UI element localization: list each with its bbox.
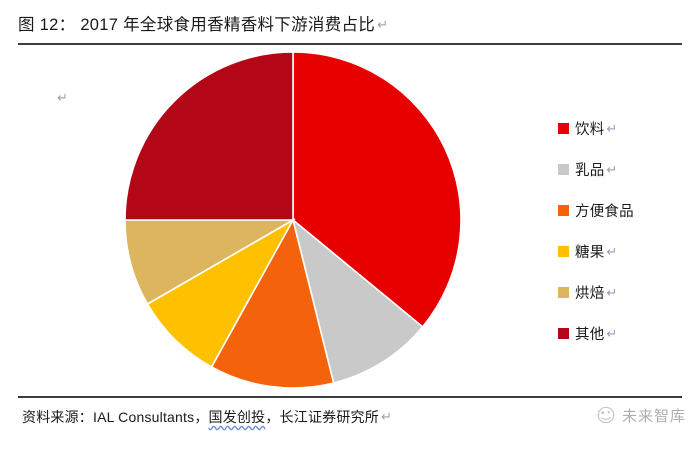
legend-swatch-icon: [558, 205, 569, 216]
legend-item-label: 糖果: [575, 241, 604, 262]
legend-swatch-icon: [558, 328, 569, 339]
pie-chart-svg: [123, 50, 463, 390]
source-ial: IAL Consultants: [93, 409, 194, 425]
watermark: 未来智库: [595, 404, 686, 426]
legend-item-label: 饮料: [575, 118, 604, 139]
title-divider: [18, 43, 682, 45]
watermark-logo-icon: [595, 404, 617, 426]
figure-container: 图 12： 2017 年全球食用香精香料下游消费占比↵ ↵ 饮料↵乳品↵方便食品…: [0, 0, 700, 449]
figure-title-text: 图 12： 2017 年全球食用香精香料下游消费占比: [18, 16, 375, 34]
pie-slice-group: [125, 52, 461, 388]
source-separator-2: ，: [265, 409, 279, 425]
source-guofa: 国发创投: [209, 409, 266, 425]
legend-item[interactable]: 乳品↵: [558, 149, 698, 190]
legend-item[interactable]: 饮料↵: [558, 108, 698, 149]
legend-swatch-icon: [558, 287, 569, 298]
legend-swatch-icon: [558, 123, 569, 134]
source-separator-1: ，: [194, 409, 208, 425]
legend-item-label: 方便食品: [575, 200, 634, 221]
legend-item[interactable]: 糖果↵: [558, 231, 698, 272]
legend-item[interactable]: 烘焙↵: [558, 272, 698, 313]
legend-swatch-icon: [558, 246, 569, 257]
paragraph-mark-icon-legend: ↵: [606, 244, 617, 260]
paragraph-mark-icon: ↵: [377, 17, 388, 32]
source-prefix-label: 资料来源：: [22, 409, 93, 425]
paragraph-mark-icon-legend: ↵: [606, 285, 617, 301]
legend-item-label: 乳品: [575, 159, 604, 180]
figure-title-bar: 图 12： 2017 年全球食用香精香料下游消费占比↵: [18, 10, 682, 44]
source-note: 资料来源：IAL Consultants，国发创投，长江证券研究所↵: [22, 407, 392, 427]
paragraph-mark-icon-legend: ↵: [606, 162, 617, 178]
pie-slice[interactable]: [125, 52, 293, 220]
paragraph-mark-icon-legend: ↵: [606, 121, 617, 137]
source-changjiang: 长江证券研究所: [280, 409, 379, 425]
pie-chart: [123, 50, 463, 390]
paragraph-mark-icon-legend: ↵: [606, 326, 617, 342]
legend-item[interactable]: 方便食品: [558, 190, 698, 231]
chart-plot-area: ↵ 饮料↵乳品↵方便食品糖果↵烘焙↵其他↵: [18, 46, 682, 394]
legend-item-label: 烘焙: [575, 282, 604, 303]
legend-item-label: 其他: [575, 323, 604, 344]
footer-divider: [18, 396, 682, 398]
legend-item[interactable]: 其他↵: [558, 313, 698, 354]
page-title: 图 12： 2017 年全球食用香精香料下游消费占比↵: [18, 10, 682, 40]
legend-swatch-icon: [558, 164, 569, 175]
paragraph-mark-icon-left: ↵: [57, 90, 68, 106]
watermark-label: 未来智库: [622, 405, 686, 426]
paragraph-mark-icon-footer: ↵: [381, 409, 392, 424]
chart-legend: 饮料↵乳品↵方便食品糖果↵烘焙↵其他↵: [558, 108, 698, 354]
